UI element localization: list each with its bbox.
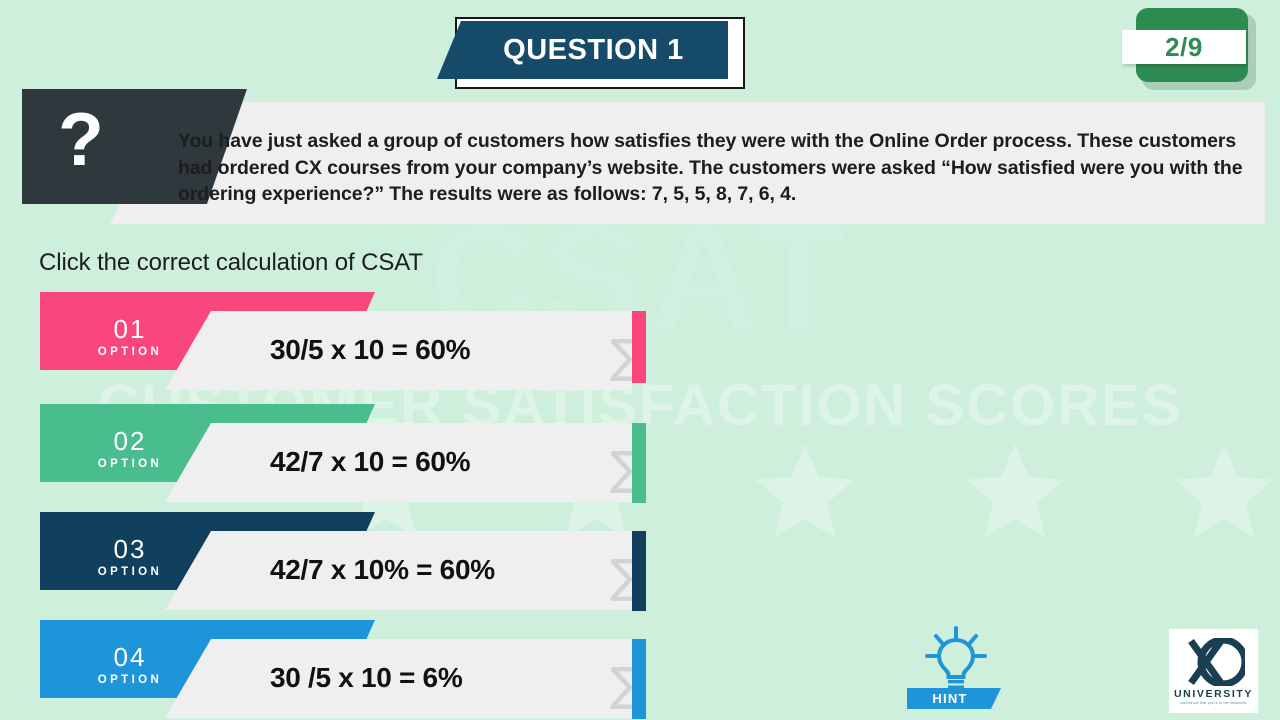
option-text-03: 42/7 x 10% = 60% (270, 554, 495, 586)
hint-label: HINT (932, 691, 975, 706)
option-number-02: 02 (40, 426, 220, 457)
option-accent-bar-01 (632, 311, 646, 383)
page-counter: 2/9 (1136, 8, 1256, 90)
option-accent-bar-04 (632, 639, 646, 719)
option-row-01[interactable]: 01 OPTION ∑ 30/5 x 10 = 60% (40, 292, 640, 400)
option-number-03: 03 (40, 534, 220, 565)
hint-banner[interactable]: HINT (907, 688, 1001, 709)
star-icon (1168, 440, 1280, 546)
option-text-02: 42/7 x 10 = 60% (270, 446, 470, 478)
option-number-04: 04 (40, 642, 220, 673)
lightbulb-icon (921, 626, 991, 697)
option-number-01: 01 (40, 314, 220, 345)
option-row-03[interactable]: 03 OPTION ∑ 42/7 x 10% = 60% (40, 512, 640, 620)
logo-name: UNIVERSITY (1174, 688, 1253, 700)
option-text-01: 30/5 x 10 = 60% (270, 334, 470, 366)
option-text-04: 30 /5 x 10 = 6% (270, 662, 462, 694)
counter-value: 2/9 (1165, 32, 1203, 63)
question-mark-icon: ? (58, 102, 104, 177)
hint-button[interactable]: HINT (907, 626, 1007, 716)
logo-tagline: confidence that you're in the measured (1180, 701, 1246, 705)
brand-logo: UNIVERSITY confidence that you're in the… (1169, 629, 1258, 713)
cx-monogram-icon (1183, 638, 1245, 686)
star-icon (959, 440, 1071, 546)
option-accent-bar-03 (632, 531, 646, 611)
page-title: QUESTION 1 (481, 34, 684, 67)
option-row-04[interactable]: 04 OPTION ∑ 30 /5 x 10 = 6% (40, 620, 640, 720)
question-header: QUESTION 1 (437, 14, 757, 94)
counter-band: 2/9 (1122, 30, 1246, 64)
header-banner: QUESTION 1 (437, 21, 728, 79)
option-accent-bar-02 (632, 423, 646, 503)
star-icon (749, 440, 861, 546)
slide-canvas: CSAT CUSTOMER SATISFACTION SCORES QUESTI… (0, 0, 1280, 720)
question-text: You have just asked a group of customers… (178, 128, 1250, 208)
option-row-02[interactable]: 02 OPTION ∑ 42/7 x 10 = 60% (40, 404, 640, 512)
instruction-text: Click the correct calculation of CSAT (39, 249, 423, 277)
